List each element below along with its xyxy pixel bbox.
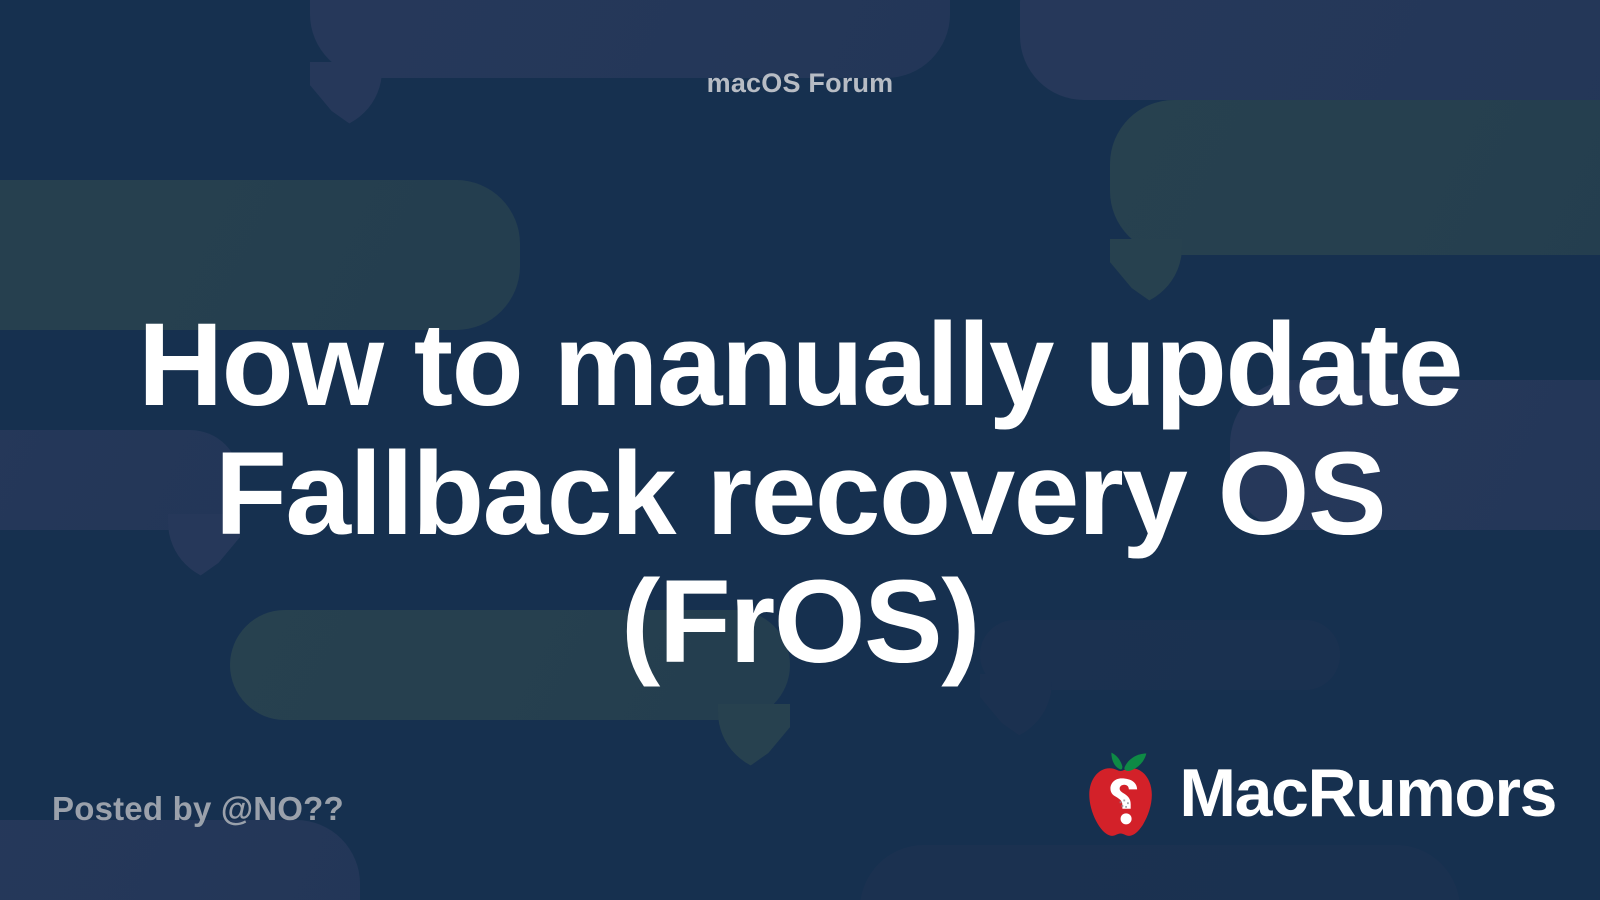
og-share-card: macOS Forum How to manually update Fallb… [0, 0, 1600, 900]
card-content: macOS Forum How to manually update Fallb… [0, 0, 1600, 900]
macrumors-apple-icon [1081, 746, 1173, 842]
forum-label: macOS Forum [0, 68, 1600, 99]
macrumors-wordmark: MacRumors [1179, 759, 1556, 827]
macrumors-logo: MacRumors [1081, 746, 1556, 842]
page-title: How to manually update Fallback recovery… [0, 301, 1600, 687]
byline-posted-by: Posted by @NO?? [52, 790, 344, 828]
